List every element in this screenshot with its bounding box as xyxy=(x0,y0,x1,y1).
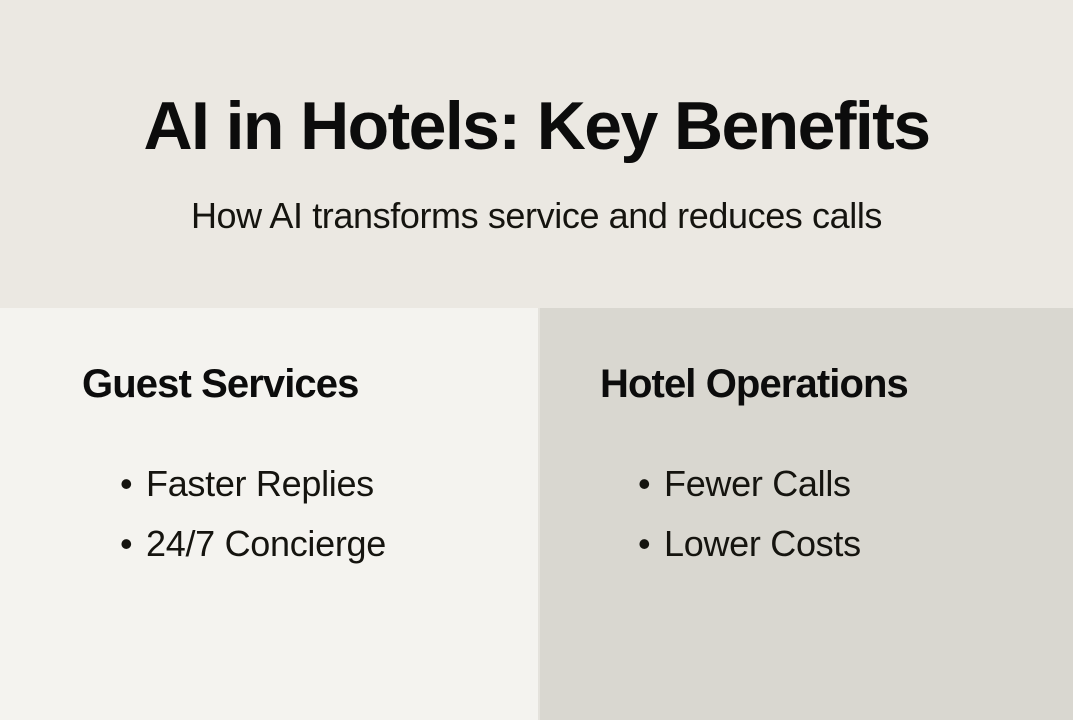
list-item-label: 24/7 Concierge xyxy=(146,514,386,574)
list-item: • Faster Replies xyxy=(120,454,514,514)
list-item-label: Faster Replies xyxy=(146,454,374,514)
bullet-dot-icon: • xyxy=(638,454,664,514)
bullet-list-guest-services: • Faster Replies • 24/7 Concierge xyxy=(82,404,514,574)
panel-hotel-operations: Hotel Operations • Fewer Calls • Lower C… xyxy=(538,308,1073,720)
list-item: • Fewer Calls xyxy=(638,454,1049,514)
list-item: • Lower Costs xyxy=(638,514,1049,574)
page-title: AI in Hotels: Key Benefits xyxy=(144,92,930,160)
list-item-label: Fewer Calls xyxy=(664,454,851,514)
bullet-dot-icon: • xyxy=(638,514,664,574)
list-item-label: Lower Costs xyxy=(664,514,861,574)
panel-heading-guest-services: Guest Services xyxy=(82,364,514,404)
page-subtitle: How AI transforms service and reduces ca… xyxy=(191,160,882,234)
panel-guest-services: Guest Services • Faster Replies • 24/7 C… xyxy=(0,308,538,720)
panels-container: Guest Services • Faster Replies • 24/7 C… xyxy=(0,308,1073,720)
slide-header: AI in Hotels: Key Benefits How AI transf… xyxy=(0,0,1073,308)
panel-heading-hotel-operations: Hotel Operations xyxy=(600,364,1049,404)
list-item: • 24/7 Concierge xyxy=(120,514,514,574)
bullet-dot-icon: • xyxy=(120,514,146,574)
bullet-dot-icon: • xyxy=(120,454,146,514)
slide-canvas: AI in Hotels: Key Benefits How AI transf… xyxy=(0,0,1073,720)
bullet-list-hotel-operations: • Fewer Calls • Lower Costs xyxy=(600,404,1049,574)
